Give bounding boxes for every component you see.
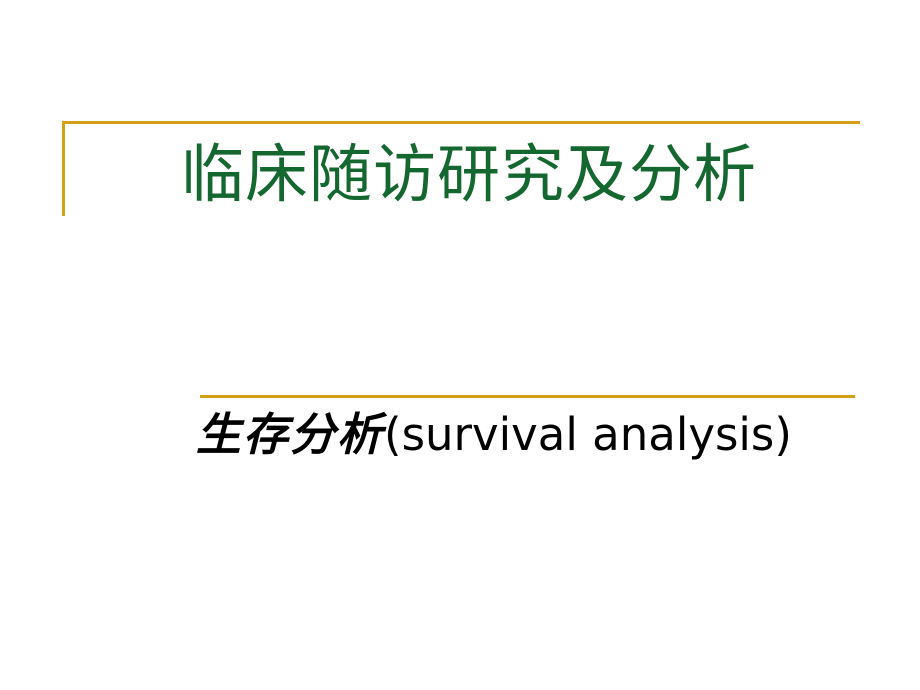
title-slide: 临床随访研究及分析 生存分析(survival analysis) [0, 0, 920, 690]
subtitle-cjk-text: 生存分析 [196, 408, 384, 461]
page-title: 临床随访研究及分析 [165, 143, 757, 206]
subtitle-block: 生存分析(survival analysis) [196, 404, 856, 466]
subtitle-latin-text: (survival analysis) [384, 408, 792, 461]
title-block: 临床随访研究及分析 [62, 124, 860, 224]
page-subtitle: 生存分析(survival analysis) [196, 411, 792, 458]
gold-horizontal-rule-subtitle [200, 395, 855, 398]
